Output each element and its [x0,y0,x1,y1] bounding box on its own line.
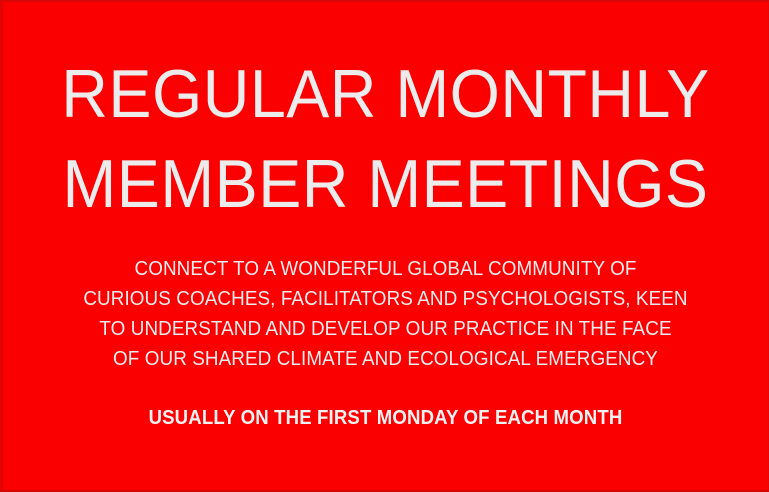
description-line-3: TO UNDERSTAND AND DEVELOP OUR PRACTICE I… [34,314,738,344]
headline-line-2: MEMBER MEETINGS [22,139,749,229]
description-line-1: CONNECT TO A WONDERFUL GLOBAL COMMUNITY … [34,254,738,284]
poster-schedule-note: USUALLY ON THE FIRST MONDAY OF EACH MONT… [30,405,741,431]
poster-description: CONNECT TO A WONDERFUL GLOBAL COMMUNITY … [34,254,738,374]
description-line-2: CURIOUS COACHES, FACILITATORS AND PSYCHO… [34,284,738,314]
schedule-line-1: USUALLY ON THE FIRST MONDAY OF EACH MONT… [149,407,623,429]
poster-headline: REGULAR MONTHLY MEMBER MEETINGS [22,49,749,229]
description-line-4: OF OUR SHARED CLIMATE AND ECOLOGICAL EME… [34,344,738,374]
headline-line-1: REGULAR MONTHLY [22,49,749,139]
promotional-poster: REGULAR MONTHLY MEMBER MEETINGS CONNECT … [0,0,769,492]
